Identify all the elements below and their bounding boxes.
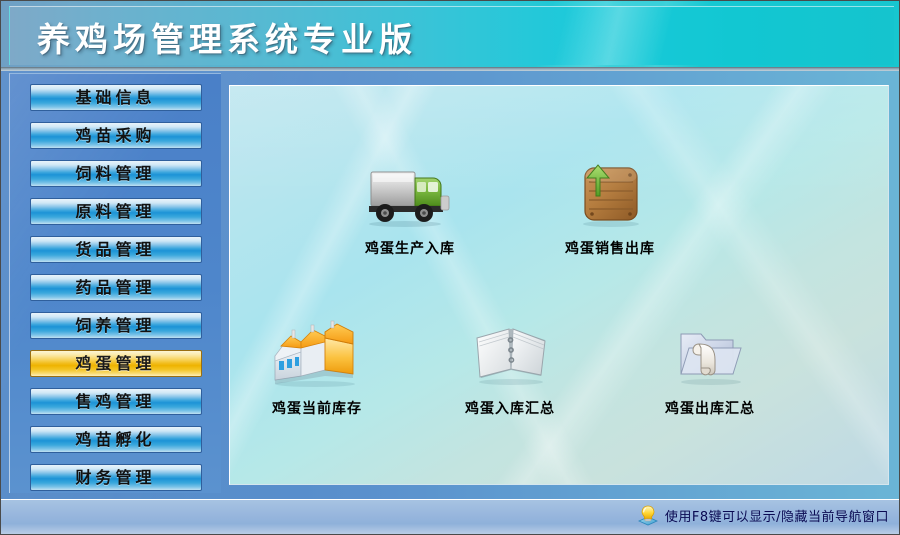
app-header: 养鸡场管理系统专业版 bbox=[1, 1, 900, 69]
module-egg-sales-outbound[interactable]: 鸡蛋销售出库 bbox=[535, 158, 685, 258]
sidebar-item-medicine-management[interactable]: 药品管理 bbox=[30, 274, 202, 301]
status-hint: 使用F8键可以显示/隐藏当前导航窗口 bbox=[636, 504, 889, 526]
content-panel: 鸡蛋生产入库 bbox=[229, 85, 889, 485]
warehouse-icon bbox=[242, 318, 392, 396]
folder-scroll-icon bbox=[635, 318, 785, 396]
page-title: 养鸡场管理系统专业版 bbox=[37, 13, 417, 61]
module-egg-current-stock[interactable]: 鸡蛋当前库存 bbox=[242, 318, 392, 418]
sidebar-item-basic-info[interactable]: 基础信息 bbox=[30, 84, 202, 111]
sidebar-item-label: 鸡蛋管理 bbox=[31, 353, 201, 375]
sidebar-item-label: 财务管理 bbox=[31, 467, 201, 489]
sidebar-item-label: 基础信息 bbox=[31, 87, 201, 109]
navigation-sidebar: 基础信息 鸡苗采购 饲料管理 原料管理 货品管理 药品管理 饲养管理 鸡蛋管理 bbox=[9, 73, 221, 493]
sidebar-item-breeding-management[interactable]: 饲养管理 bbox=[30, 312, 202, 339]
module-label: 鸡蛋出库汇总 bbox=[635, 398, 785, 418]
open-book-icon bbox=[435, 318, 585, 396]
window-body: 基础信息 鸡苗采购 饲料管理 原料管理 货品管理 药品管理 饲养管理 鸡蛋管理 bbox=[1, 71, 900, 499]
module-label: 鸡蛋生产入库 bbox=[335, 238, 485, 258]
module-label: 鸡蛋入库汇总 bbox=[435, 398, 585, 418]
status-bar: 使用F8键可以显示/隐藏当前导航窗口 bbox=[1, 499, 900, 534]
module-icon-grid: 鸡蛋生产入库 bbox=[230, 86, 888, 484]
sidebar-item-finance-management[interactable]: 财务管理 bbox=[30, 464, 202, 491]
sidebar-item-goods-management[interactable]: 货品管理 bbox=[30, 236, 202, 263]
module-label: 鸡蛋销售出库 bbox=[535, 238, 685, 258]
sidebar-item-label: 鸡苗孵化 bbox=[31, 429, 201, 451]
sidebar-item-chick-purchase[interactable]: 鸡苗采购 bbox=[30, 122, 202, 149]
sidebar-item-label: 饲养管理 bbox=[31, 315, 201, 337]
lightbulb-icon bbox=[636, 504, 660, 526]
sidebar-item-hatching[interactable]: 鸡苗孵化 bbox=[30, 426, 202, 453]
module-egg-inbound-summary[interactable]: 鸡蛋入库汇总 bbox=[435, 318, 585, 418]
sidebar-item-label: 原料管理 bbox=[31, 201, 201, 223]
sidebar-item-egg-management[interactable]: 鸡蛋管理 bbox=[30, 350, 202, 377]
module-egg-outbound-summary[interactable]: 鸡蛋出库汇总 bbox=[635, 318, 785, 418]
sidebar-item-chicken-sales[interactable]: 售鸡管理 bbox=[30, 388, 202, 415]
sidebar-item-feed-management[interactable]: 饲料管理 bbox=[30, 160, 202, 187]
sidebar-item-label: 鸡苗采购 bbox=[31, 125, 201, 147]
sidebar-item-label: 药品管理 bbox=[31, 277, 201, 299]
sidebar-item-raw-material-management[interactable]: 原料管理 bbox=[30, 198, 202, 225]
application-window: 养鸡场管理系统专业版 基础信息 鸡苗采购 饲料管理 原料管理 货品管理 药品管理 bbox=[0, 0, 900, 535]
sidebar-item-label: 货品管理 bbox=[31, 239, 201, 261]
truck-icon bbox=[335, 158, 485, 236]
crate-upload-icon bbox=[535, 158, 685, 236]
sidebar-item-label: 饲料管理 bbox=[31, 163, 201, 185]
module-egg-production-inbound[interactable]: 鸡蛋生产入库 bbox=[335, 158, 485, 258]
module-label: 鸡蛋当前库存 bbox=[242, 398, 392, 418]
sidebar-item-label: 售鸡管理 bbox=[31, 391, 201, 413]
status-hint-text: 使用F8键可以显示/隐藏当前导航窗口 bbox=[665, 506, 889, 525]
